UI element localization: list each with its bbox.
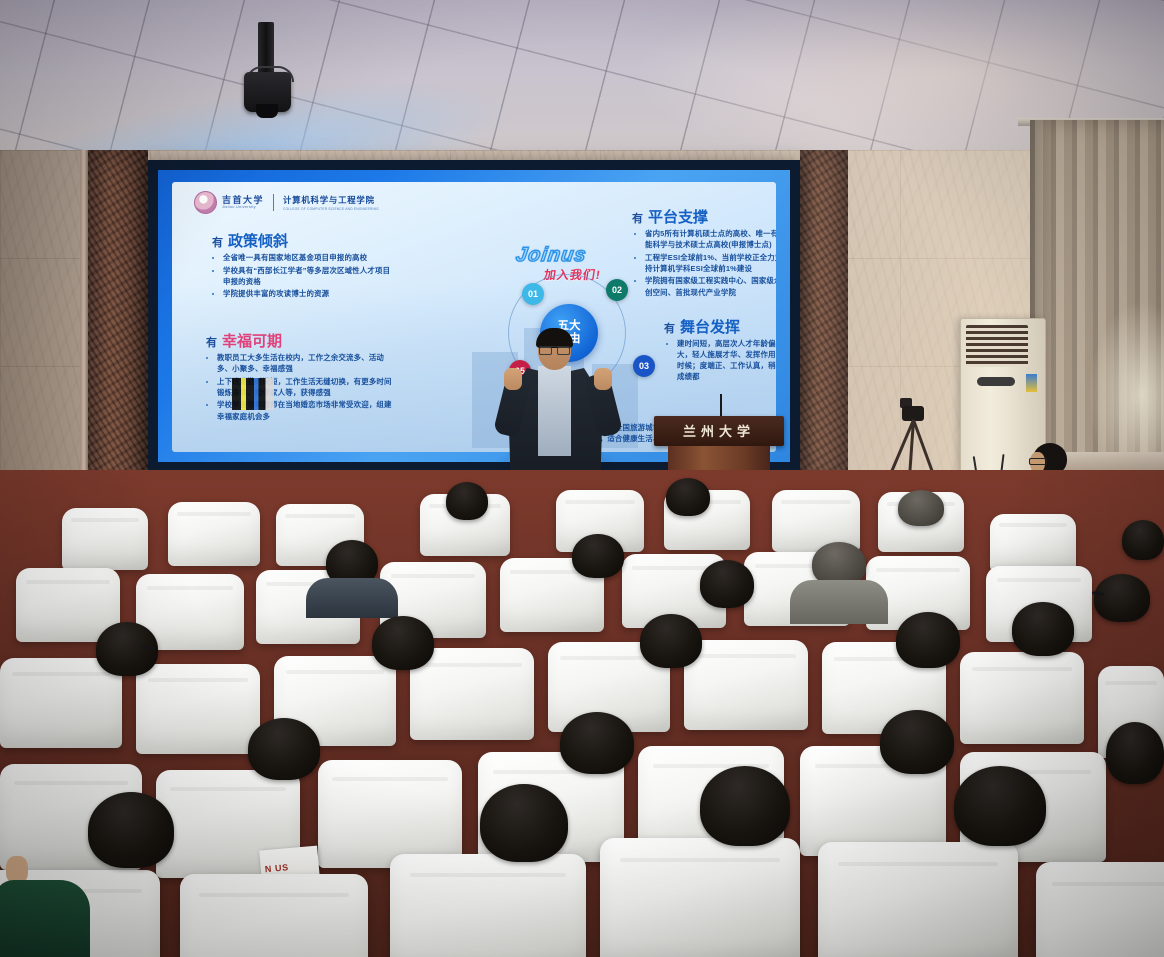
attendee-head xyxy=(372,616,434,670)
attendee-head xyxy=(700,560,754,608)
attendee-shoulders xyxy=(790,580,888,624)
logo-divider xyxy=(273,194,274,211)
list-item: 学院提供丰富的攻读博士的资源 xyxy=(223,288,394,299)
slide-node-02: 02 xyxy=(606,279,628,301)
attendee-head xyxy=(88,792,174,868)
slide-section-heading-stage: 有 舞台发挥 xyxy=(664,316,740,337)
presentation-slide: 吉首大学 Jishou University 计算机科学与工程学院 COLLEG… xyxy=(172,182,776,452)
attendee-head xyxy=(898,490,944,526)
speaker-presenter xyxy=(498,326,618,486)
join-us-headline: Joinus xyxy=(514,244,588,267)
attendee-shoulders xyxy=(306,578,398,618)
attendee-head xyxy=(700,766,790,846)
slide-bullets-platform: 省内5所有计算机硕士点的高校、唯一有智能科学与技术硕士点高校(申报博士点) 工程… xyxy=(634,228,776,299)
list-item: 全省唯一具有国家地区基金项目申报的高校 xyxy=(223,252,394,263)
speaker-hand-right xyxy=(594,368,612,390)
list-item: 建时间短，高层次人才年龄偏大，轻人施展才华、发挥作用的时候；度端正、工作认真，稍… xyxy=(677,338,776,382)
seat xyxy=(960,652,1084,744)
college-name-cn: 计算机科学与工程学院 xyxy=(283,194,379,206)
window-sill xyxy=(1060,452,1164,472)
slide-bullets-policy: 全省唯一具有国家地区基金项目申报的高校 学校具有“西部长江学者”等多层次区域性人… xyxy=(212,252,394,301)
speaker-hair xyxy=(536,328,573,348)
list-item: 学校具有“西部长江学者”等多层次区域性人才项目申报的资格 xyxy=(223,265,394,287)
slide-section-heading-happiness: 有 幸福可期 xyxy=(206,330,282,351)
slide-node-01: 01 xyxy=(522,283,544,305)
seat xyxy=(318,760,462,868)
attendee-head xyxy=(640,614,702,668)
seat xyxy=(1036,862,1164,957)
list-item: 工程学ESI全球前1%、当前学校正全力支持计算机学科ESI全球前1%建设 xyxy=(645,252,776,274)
projector-lens-icon xyxy=(256,104,278,118)
slide-section-heading-platform: 有 平台支撑 xyxy=(632,206,708,227)
speaker-hand-left xyxy=(504,368,522,390)
ac-brand-badge xyxy=(977,377,1015,386)
seat xyxy=(136,664,260,754)
seat xyxy=(818,842,1018,957)
seated-attendee-glasses-icon xyxy=(1029,458,1047,465)
list-item: 省内5所有计算机硕士点的高校、唯一有智能科学与技术硕士点高校(申报博士点) xyxy=(645,228,776,250)
attendee-head xyxy=(1094,574,1150,622)
attendee-head xyxy=(1122,520,1164,560)
speaker-glasses-icon xyxy=(539,346,570,353)
attendee-head xyxy=(560,712,634,774)
attendee-head xyxy=(896,612,960,668)
slide-bullets-stage: 建时间短，高层次人才年龄偏大，轻人施展才华、发挥作用的时候；度端正、工作认真，稍… xyxy=(666,338,776,384)
seat xyxy=(390,854,586,957)
college-name-en: COLLEGE OF COMPUTER SCIENCE AND ENGINEER… xyxy=(283,207,379,211)
attendee-head xyxy=(880,710,954,774)
university-name-cn: 吉首大学 xyxy=(222,196,264,205)
marble-column-right xyxy=(800,150,848,480)
slide-node-03: 03 xyxy=(633,355,655,377)
speaker-shirt xyxy=(538,366,571,456)
attendee-head xyxy=(666,478,710,516)
list-item: 教职员工大多生活在校内，工作之余交流多、活动多、小聚多、幸福感强 xyxy=(217,352,398,374)
ac-vent-grille xyxy=(966,325,1028,367)
ac-energy-label xyxy=(1026,374,1037,392)
attendee-head xyxy=(1012,602,1074,656)
attendee-head xyxy=(480,784,568,862)
attendee-head xyxy=(572,534,624,578)
seat xyxy=(600,838,800,957)
slide-logo: 吉首大学 Jishou University 计算机科学与工程学院 COLLEG… xyxy=(194,191,379,214)
seat xyxy=(684,640,808,730)
attendee-head xyxy=(1106,722,1164,784)
audience-seating-area: N US xyxy=(0,470,1164,957)
front-attendee-green-jacket xyxy=(0,880,90,957)
slide-section-heading-policy: 有 政策倾斜 xyxy=(212,230,288,251)
seat xyxy=(0,658,122,748)
seat xyxy=(180,874,368,957)
seat xyxy=(410,648,534,740)
lecture-hall-photo: 吉首大学 Jishou University 计算机科学与工程学院 COLLEG… xyxy=(0,0,1164,957)
attendee-head xyxy=(954,766,1046,846)
podium-nameplate: 兰州大学 xyxy=(654,416,784,446)
podium-university-label: 兰州大学 xyxy=(654,421,784,440)
seat xyxy=(990,514,1076,572)
brochure-title: N US xyxy=(264,862,289,874)
university-seal-icon xyxy=(194,191,217,214)
seat xyxy=(62,508,148,570)
university-name-en: Jishou University xyxy=(222,205,264,209)
attendee-head xyxy=(446,482,488,520)
slide-color-artifact xyxy=(232,378,274,410)
seat xyxy=(168,502,260,566)
attendee-head xyxy=(248,718,320,780)
list-item: 学院拥有国家级工程实践中心、国家级众创空间、首批现代产业学院 xyxy=(645,275,776,297)
